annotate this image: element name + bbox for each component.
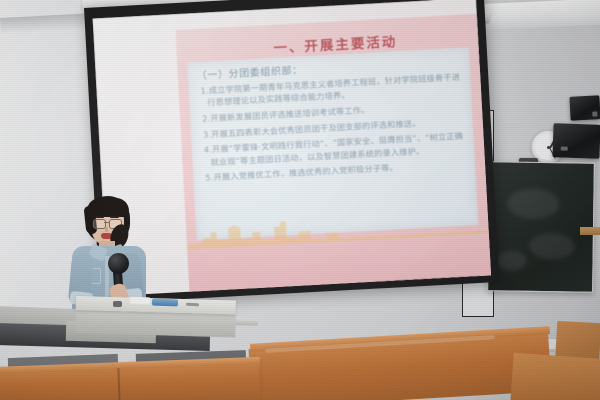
classroom-photo: 一、开展主要活动 （一）分团委组织部： 1.成立学院第一期青年马克思主义者培养工… [0,0,600,400]
chalkboard [487,161,595,292]
microphone-icon [108,253,129,274]
chalk-smudge [496,250,526,270]
blue-folder [152,299,178,307]
eyebrow [110,216,119,218]
wall-speaker [552,123,600,159]
student-desk [510,353,600,400]
chalk-smudge [529,233,575,260]
remote-clicker [113,301,122,307]
speaker-led-icon [592,111,597,116]
papers [130,297,150,305]
screen-glare [93,0,491,296]
pen [186,303,199,307]
chalk-smudge [507,189,559,220]
eyebrow [95,216,104,218]
speaker-led-icon [561,146,568,150]
wall-shelf [580,227,600,235]
glasses-bridge [104,222,109,223]
nose [105,227,108,232]
screen-surface: 一、开展主要活动 （一）分团委组织部： 1.成立学院第一期青年马克思主义者培养工… [93,0,491,296]
wall-speaker [569,95,600,121]
